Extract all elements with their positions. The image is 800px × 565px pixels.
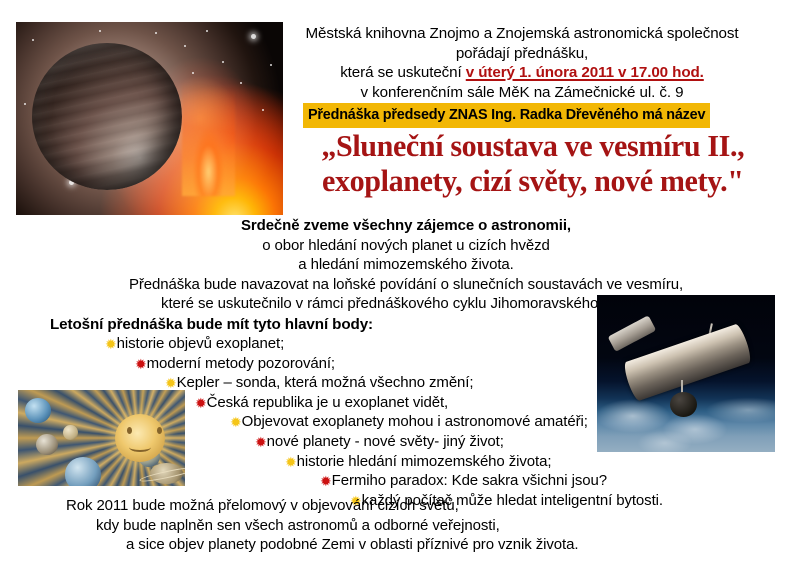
list-item-label: nové planety - nové světy- jiný život; [267,433,504,450]
list-item: ✹historie hledání mimozemského života; [285,452,750,472]
star-bullet-icon: ✹ [165,376,177,390]
lead-line-3: a hledání mimozemského života. [86,255,726,275]
list-item-label: historie hledání mimozemského života; [297,453,552,470]
lead-line-2: o obor hledání nových planet u cizích hv… [86,236,726,256]
closing-line-1: Rok 2011 bude možná přelomový v objevová… [66,496,744,516]
lecture-title: „Sluneční soustava ve vesmíru II., exopl… [300,128,766,198]
list-item-label: moderní metody pozorování; [147,355,335,372]
list-item-label: Objevovat exoplanety mohou i astronomové… [242,413,588,430]
bullets-heading: Letošní přednáška bude mít tyto hlavní b… [50,316,373,333]
antenna-dish [670,392,697,417]
list-item-label: Kepler – sonda, která možná všechno změn… [177,374,474,391]
star-bullet-icon: ✹ [135,357,147,371]
lecture-title-line-2: exoplanety, cizí světy, nové mety." [300,163,766,198]
star-bullet-icon: ✹ [285,455,297,469]
intro-line-2: pořádají přednášku, [296,44,748,64]
closing-line-3: a sice objev planety podobné Zemi v obla… [126,535,744,555]
stellar-flare [182,76,235,196]
exoplanet-photo [16,22,283,215]
star-bullet-icon: ✹ [255,435,267,449]
star-bullet-icon: ✹ [230,415,242,429]
lecture-title-line-1: „Sluneční soustava ve vesmíru II., [300,128,766,163]
planet-icon-1 [25,398,52,423]
list-item-label: Česká republika je u exoplanet vidět, [207,394,448,411]
list-item: ✹Fermiho paradox: Kde sakra všichni jsou… [320,471,750,491]
intro-paragraph: Městská knihovna Znojmo a Znojemská astr… [296,24,748,102]
closing-line-2: kdy bude naplněn sen všech astronomů a o… [96,516,744,536]
hubble-telescope-photo [597,295,775,452]
lecture-date-time: v úterý 1. února 2011 v 17.00 hod. [466,64,704,81]
star-bullet-icon: ✹ [320,474,332,488]
intro-line-3: která se uskuteční v úterý 1. února 2011… [296,63,748,83]
intro-line-3-prefix: která se uskuteční [340,64,466,81]
closing-paragraph: Rok 2011 bude možná přelomový v objevová… [44,496,744,555]
list-item-label: Fermiho paradox: Kde sakra všichni jsou? [332,472,607,489]
poster-root: Městská knihovna Znojmo a Znojemská astr… [0,0,800,565]
list-item-label: historie objevů exoplanet; [117,335,285,352]
intro-line-1: Městská knihovna Znojmo a Znojemská astr… [296,24,748,44]
planet-sphere [32,43,182,190]
lead-line-1: Srdečně zveme všechny zájemce o astronom… [86,216,726,236]
solar-panel [608,315,657,352]
intro-line-4: v konferenčním sále MěK na Zámečnické ul… [296,83,748,103]
star-bullet-icon: ✹ [195,396,207,410]
speaker-banner: Přednáška předsedy ZNAS Ing. Radka Dřevě… [303,103,710,128]
lead-line-4: Přednáška bude navazovat na loňské povíd… [86,275,726,295]
star-bullet-icon: ✹ [105,337,117,351]
